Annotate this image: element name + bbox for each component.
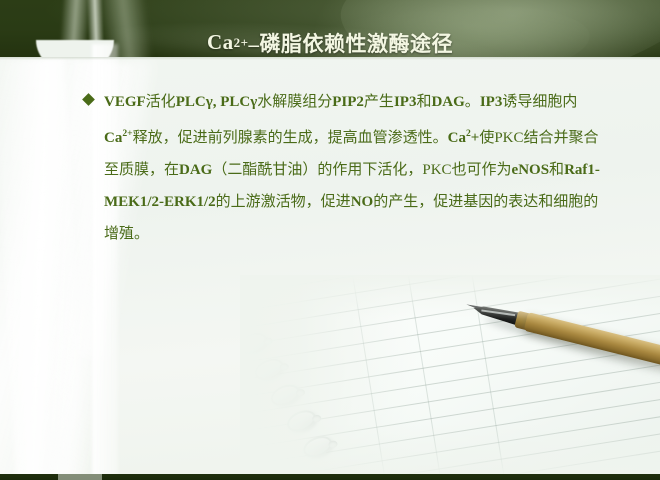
notebook-spiral-binding [240,275,398,475]
text-no: NO [351,194,374,210]
title-prefix: Ca [207,30,234,55]
text-upstream-clause: 的上游激活物，促进 [216,194,351,210]
slide: Ca2+–磷脂依赖性激酶途径 VEGF活化PLCγ, PLCγ水解膜组分PIP2… [0,0,660,480]
text-release-clause: 释放，促进前列腺素的生成，提高血管渗透性。 [133,130,448,146]
bullet-list-item: VEGF活化PLCγ, PLCγ水解膜组分PIP2产生IP3和DAG。IP3诱导… [84,86,604,250]
text-pip2: PIP2 [332,94,364,110]
text-enos: eNOS [512,162,550,178]
text-and: 和 [416,94,431,110]
text-ip3-2: IP3 [480,94,503,110]
pen-shadow [484,313,660,384]
text-hydrolyze: 水解膜组分 [257,94,332,110]
fountain-pen [463,297,660,377]
body-paragraph: VEGF活化PLCγ, PLCγ水解膜组分PIP2产生IP3和DAG。IP3诱导… [104,86,604,250]
text-ca-1: Ca [104,130,122,146]
pen-nib-slit [481,309,515,315]
page-title: Ca2+–磷脂依赖性激酶途径 [0,14,660,71]
pen-nib [472,301,526,327]
title-rest: –磷脂依赖性激酶途径 [249,28,454,58]
notebook-ruled-lines [240,275,660,475]
slide-bottom-bar-highlight [58,474,102,480]
pen-tip [466,303,484,311]
diamond-bullet-icon [82,93,95,106]
text-diacylglycerol-clause: （二酯酰甘油）的作用下活化，PKC也可作为 [212,162,511,178]
notebook-pen-photo [240,275,660,475]
pen-barrel [524,312,660,379]
title-superscript: 2+ [234,35,249,51]
text-huohua: 活化 [146,94,176,110]
light-ray-decor [0,58,86,480]
pen-grip [514,311,539,333]
text-dag: DAG [431,94,464,110]
text-dag-2: DAG [179,162,212,178]
text-ca-1-superscript: 2+ [122,128,132,139]
text-ca-2: Ca [448,130,466,146]
text-ip3: IP3 [394,94,417,110]
text-period-1: 。 [465,94,480,110]
notebook-page [240,275,660,475]
text-and-2: 和 [549,162,564,178]
text-plcg: PLCγ, PLCγ [176,94,258,110]
text-vegf: VEGF [104,94,146,110]
slide-content: VEGF活化PLCγ, PLCγ水解膜组分PIP2产生IP3和DAG。IP3诱导… [84,86,604,250]
text-produce: 产生 [364,94,394,110]
text-induce-intracellular: 诱导细胞内 [502,94,577,110]
